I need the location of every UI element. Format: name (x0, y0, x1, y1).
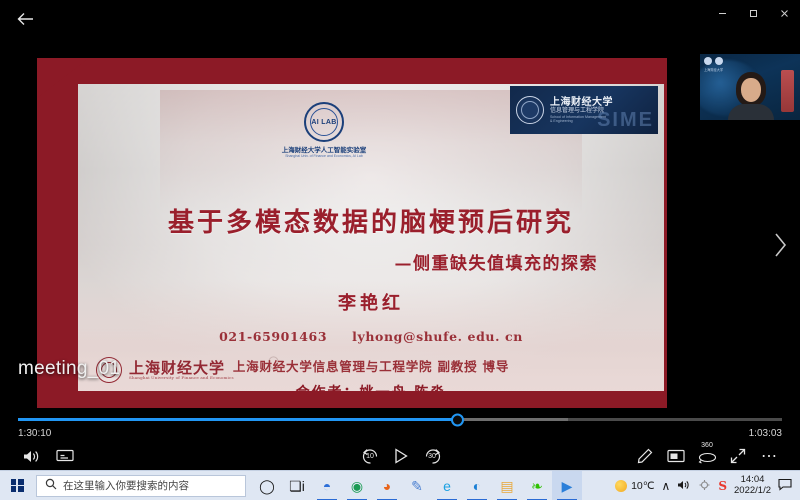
fullscreen-icon[interactable] (723, 442, 753, 470)
sime-university-cn: 上海财经大学 (550, 97, 613, 109)
windows-start-icon[interactable] (0, 471, 34, 500)
seek-bar[interactable] (18, 418, 782, 421)
volume-icon[interactable] (16, 442, 46, 470)
webcam-bg-logos (704, 57, 723, 65)
tray-volume-icon[interactable] (677, 479, 691, 493)
window-controls (707, 0, 800, 26)
clock-date: 2022/1/2 (734, 486, 771, 497)
shufe-name-cn: 上海财经大学 (129, 360, 234, 377)
slide-content-area: AI LAB 上海财经大学人工智能实验室 Shanghai Univ. of F… (78, 84, 664, 391)
file-explorer-icon[interactable]: ▤ (492, 471, 522, 500)
picture-in-picture-icon[interactable] (661, 442, 691, 470)
ai-lab-caption-cn: 上海财经大学人工智能实验室 (282, 144, 367, 154)
seek-thumb[interactable] (451, 413, 464, 426)
maximize-button[interactable] (738, 0, 769, 26)
webcam-bg-banner (781, 70, 794, 112)
sogou-input-icon[interactable]: S (718, 480, 727, 492)
slide-contact: 021-65901463 lyhong@shufe. edu. cn (78, 329, 664, 344)
weather-widget[interactable]: 10℃ (615, 480, 654, 492)
captions-icon[interactable] (50, 442, 80, 470)
rewind-10-icon[interactable]: 10 (355, 442, 385, 470)
slide-email: lyhong@shufe. edu. cn (352, 329, 523, 344)
current-time-label: 1:30:10 (18, 428, 51, 439)
system-tray: 10℃ ∧ S 14:04 2022/1/2 (615, 475, 800, 497)
video-stage[interactable]: AI LAB 上海财经大学人工智能实验室 Shanghai Univ. of F… (0, 26, 800, 408)
tray-network-icon[interactable] (698, 479, 711, 493)
task-view-icon-glyph: ◯ (259, 479, 275, 493)
search-placeholder: 在这里输入你要搜索的内容 (63, 478, 189, 493)
chrome-icon[interactable]: ◉ (342, 471, 372, 500)
edge-icon-glyph: ◐ (473, 479, 481, 493)
legacy-edge-icon[interactable]: e (432, 471, 462, 500)
search-icon (45, 478, 57, 493)
lark-icon[interactable]: ◓ (312, 471, 342, 500)
file-explorer-icon-glyph: ▤ (500, 479, 513, 493)
firefox-icon[interactable]: ◕ (372, 471, 402, 500)
shufe-footer-name: 上海财经大学 Shanghai University of Finance an… (129, 360, 234, 381)
firefox-icon-glyph: ◕ (383, 479, 391, 493)
show-hidden-icons-icon[interactable]: ∧ (662, 480, 671, 492)
close-button[interactable] (769, 0, 800, 26)
widgets-icon[interactable]: ❏i (282, 471, 312, 500)
more-options-glyph: ⋯ (761, 446, 777, 466)
action-center-icon[interactable] (778, 478, 792, 493)
ai-lab-ring-icon: AI LAB (304, 102, 344, 142)
windows-taskbar: 在这里输入你要搜索的内容 ◯❏i◓◉◕✎e◐▤❧▶ 10℃ ∧ S (0, 470, 800, 500)
speaker-webcam-thumbnail[interactable]: 上海财经大学 (700, 54, 800, 120)
played-range (18, 418, 457, 421)
forward-seconds-label: 30 (417, 453, 447, 460)
presentation-slide: AI LAB 上海财经大学人工智能实验室 Shanghai Univ. of F… (37, 58, 667, 413)
chrome-icon-glyph: ◉ (351, 479, 363, 493)
ai-lab-logo: AI LAB 上海财经大学人工智能实验室 Shanghai Univ. of F… (263, 102, 385, 158)
widgets-icon-glyph: ❏i (289, 479, 305, 493)
taskbar-items: ◯❏i◓◉◕✎e◐▤❧▶ (252, 471, 582, 500)
forward-30-icon[interactable]: 30 (417, 442, 447, 470)
pen-icon[interactable] (630, 442, 660, 470)
total-time-label: 1:03:03 (749, 428, 782, 439)
taskbar-clock[interactable]: 14:04 2022/1/2 (734, 475, 771, 497)
edge-icon[interactable]: ◐ (462, 471, 492, 500)
legacy-edge-icon-glyph: e (443, 479, 451, 493)
view-360-label: 360 (692, 442, 722, 449)
sime-watermark: SIME (597, 109, 654, 132)
shufe-seal-icon (516, 96, 544, 124)
chevron-right-icon[interactable] (773, 232, 788, 263)
ai-lab-caption-en: Shanghai Univ. of Finance and Economics,… (285, 154, 363, 158)
movies-tv-icon[interactable]: ▶ (552, 471, 582, 500)
playback-control-bar: 1:30:10 1:03:03 (0, 408, 800, 470)
search-input[interactable]: 在这里输入你要搜索的内容 (36, 475, 246, 497)
snip-tool-icon[interactable]: ✎ (402, 471, 432, 500)
view-360-icon[interactable]: 360 (692, 442, 722, 470)
control-buttons-row: 10 30 (0, 442, 800, 470)
screen: AI LAB 上海财经大学人工智能实验室 Shanghai Univ. of F… (0, 0, 800, 500)
more-options-icon[interactable]: ⋯ (754, 442, 784, 470)
speaker-face (741, 78, 761, 102)
play-icon[interactable] (386, 442, 416, 470)
movies-tv-icon-glyph: ▶ (562, 479, 573, 493)
lark-icon-glyph: ◓ (323, 479, 331, 493)
wechat-icon-glyph: ❧ (531, 479, 543, 493)
slide-phone: 021-65901463 (219, 329, 327, 344)
shufe-name-en: Shanghai University of Finance and Econo… (129, 376, 234, 380)
snip-tool-icon-glyph: ✎ (411, 479, 423, 493)
ai-lab-ring-text: AI LAB (311, 119, 336, 126)
sime-school-banner: 上海财经大学 信息管理与工程学院 School of Information M… (510, 86, 658, 134)
slide-title: 基于多模态数据的脑梗预后研究 (78, 202, 664, 239)
meeting-watermark: meeting_01 (18, 358, 120, 380)
clock-time: 14:04 (734, 475, 771, 486)
minimize-button[interactable] (707, 0, 738, 26)
temperature-label: 10℃ (631, 480, 654, 492)
task-view-icon[interactable]: ◯ (252, 471, 282, 500)
slide-author: 李艳红 (78, 289, 664, 315)
slide-collaborators: 合作者：姚一舟 陈淼 (78, 382, 664, 391)
webcam-bg-logo-text: 上海财经大学 (704, 67, 723, 72)
video-player-window: AI LAB 上海财经大学人工智能实验室 Shanghai Univ. of F… (0, 0, 800, 470)
slide-subtitle: —侧重缺失值填充的探索 (395, 249, 599, 274)
speaker-body (728, 104, 774, 120)
rewind-seconds-label: 10 (355, 453, 385, 460)
sun-icon (615, 480, 627, 492)
wechat-icon[interactable]: ❧ (522, 471, 552, 500)
